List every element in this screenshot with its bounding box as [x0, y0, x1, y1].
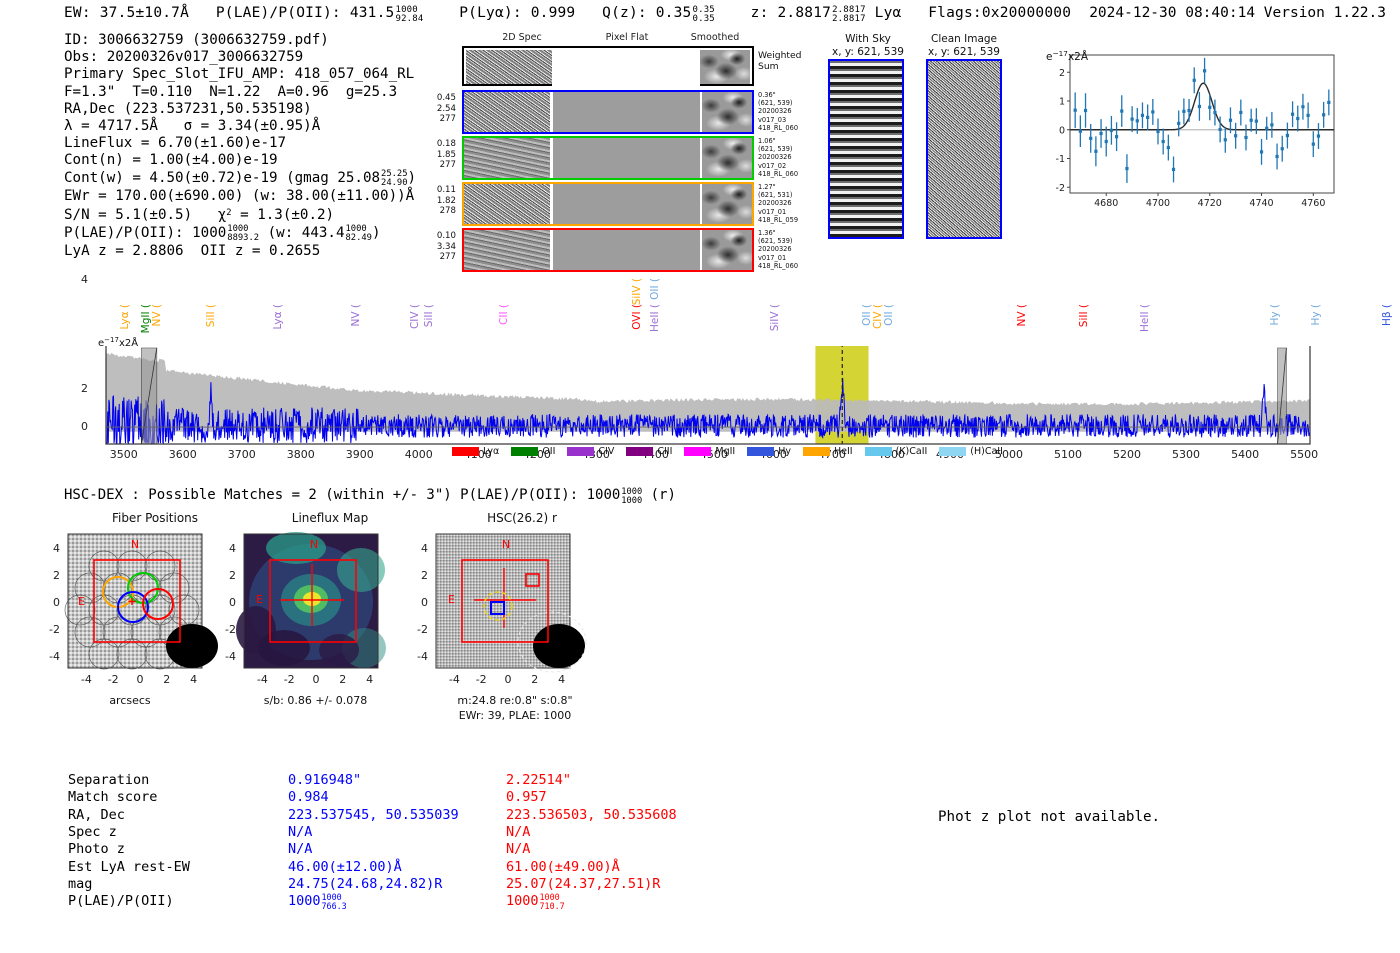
pixelflat-cell — [553, 138, 700, 178]
line-id-label: Lyα ( — [119, 304, 131, 329]
match-row-label: Spec z — [68, 824, 117, 841]
legend-label: (H)CaII — [970, 446, 1003, 457]
match-col2-value: N/A — [506, 824, 530, 841]
spectrum-xtick: 5100 — [1046, 448, 1090, 461]
line-id-label: NV ( — [151, 304, 163, 326]
info-sn-pre: S/N = 5.1(±0.5) χ — [64, 207, 226, 223]
match-col1-value: 223.537545, 50.535039 — [288, 807, 459, 824]
panel-ytick: -2 — [412, 623, 428, 636]
flags-value: Flags:0x20000000 — [928, 5, 1071, 21]
spectrum-ytick: 0 — [74, 420, 88, 433]
panel-xtick: 4 — [548, 673, 576, 686]
plya-value: 0.999 — [531, 5, 576, 21]
legend-label: HeII — [834, 446, 853, 457]
panel-ytick: -4 — [220, 650, 236, 663]
legend-label: OII — [542, 446, 555, 457]
match-col2-value: N/A — [506, 841, 530, 858]
spec2d-row-stats: 0.181.85277 — [420, 139, 456, 171]
spec2d-row — [462, 182, 754, 226]
spec2d-row — [462, 228, 754, 272]
info-cont-w-pre: Cont(w) = 4.50(±0.72)e-19 (gmag 25.08 — [64, 170, 380, 186]
info-cont-w: Cont(w) = 4.50(±0.72)e-19 (gmag 25.0825.… — [64, 170, 416, 189]
svg-text:2: 2 — [1059, 68, 1065, 79]
with-sky-coords: x, y: 621, 539 — [832, 46, 904, 58]
match-col2-value: 0.957 — [506, 789, 547, 806]
spectrum-xtick: 5200 — [1105, 448, 1149, 461]
spectrum-xtick: 3700 — [220, 448, 264, 461]
match-row-label: RA, Dec — [68, 807, 125, 824]
spec2d-row-meta: 0.36"(621, 539)20200326v017_03418_RL_060 — [758, 91, 820, 132]
clean-image-coords: x, y: 621, 539 — [928, 46, 1000, 58]
full-spectrum-plot: Lyα (MgII (NV (SiII (Lyα (NV (CIV (SiII … — [88, 278, 1320, 446]
svg-text:E: E — [448, 593, 455, 606]
svg-text:-2: -2 — [1056, 183, 1065, 194]
svg-text:N: N — [310, 538, 318, 551]
legend-item: OII — [511, 446, 555, 457]
lineflux-caption: s/b: 0.86 +/- 0.078 — [228, 694, 403, 707]
info-seeing: F=1.3" T=0.110 N=1.22 A=0.96 g=25.3 — [64, 84, 416, 101]
panel-xtick: 2 — [153, 673, 181, 686]
line-id-label: Hβ ( — [1381, 304, 1393, 326]
panel-ytick: 0 — [412, 596, 428, 609]
spectrum-xtick: 5300 — [1164, 448, 1208, 461]
legend-item: Lyα — [452, 446, 499, 457]
match-col2-value: 25.07(24.37,27.51)R — [506, 876, 660, 893]
spec2d-row-stats: 0.452.54277 — [420, 93, 456, 125]
info-cont-w-lo: 24.90 — [381, 178, 407, 188]
panel-xtick: 4 — [180, 673, 208, 686]
match-col2-value: 223.536503, 50.535608 — [506, 807, 677, 824]
line-id-label: NV ( — [350, 304, 362, 326]
legend-label: Lyα — [483, 446, 499, 457]
legend-swatch — [684, 447, 711, 456]
line-id-label: SiII ( — [1078, 304, 1090, 327]
legend-item: HeII — [803, 446, 853, 457]
col-title-smoothed: Smoothed — [672, 32, 758, 43]
spectrum-xtick: 4000 — [397, 448, 441, 461]
svg-text:4680: 4680 — [1094, 198, 1118, 209]
timestamp-version: 2024-12-30 08:40:14 Version 1.22.3 — [1089, 5, 1386, 21]
ew-value: 37.5±10.7Å — [100, 5, 189, 21]
legend-item: Hy — [747, 446, 791, 457]
spectrum-flux-unit: e−17x2Å — [98, 336, 138, 349]
qz-value: 0.35 — [656, 5, 692, 21]
panel-xtick: 2 — [521, 673, 549, 686]
hsc-image-title: HSC(26.2) r — [432, 512, 612, 525]
line-id-label: Hy ( — [1310, 304, 1322, 326]
info-plae-end: ) — [372, 225, 381, 241]
panel-ytick: 2 — [220, 569, 236, 582]
match-row-label: mag — [68, 876, 92, 893]
svg-text:N: N — [502, 538, 510, 551]
match-row-label: Est LyA rest-EW — [68, 859, 190, 876]
svg-text:-1: -1 — [1056, 154, 1065, 165]
info-plae-mid: (w: 443.4 — [259, 225, 344, 241]
match-col1-value: 46.00(±12.00)Å — [288, 859, 402, 876]
line-id-label: Hy ( — [1269, 304, 1281, 326]
spectrum-xtick: 3600 — [161, 448, 205, 461]
legend-label: (K)CaII — [896, 446, 928, 457]
panel-xtick: 0 — [494, 673, 522, 686]
panel-xtick: -2 — [467, 673, 495, 686]
match-col1-value: N/A — [288, 841, 312, 858]
fiber-positions-title: Fiber Positions — [65, 512, 245, 525]
svg-text:4700: 4700 — [1146, 198, 1170, 209]
spec2d-row-stats: 0.103.34277 — [420, 231, 456, 263]
spectrum-xtick: 3900 — [338, 448, 382, 461]
panel-xtick: -4 — [248, 673, 276, 686]
svg-text:E: E — [78, 595, 85, 608]
spec2d-panel: 2D Spec Pixel Flat Smoothed Weighted Sum… — [420, 32, 820, 278]
spec2d-row-meta: 1.06"(621, 539)20200326v017_02418_RL_060 — [758, 137, 820, 178]
svg-text:1: 1 — [1059, 97, 1065, 108]
panel-ytick: 2 — [44, 569, 60, 582]
svg-text:E: E — [256, 593, 263, 606]
match-col2-value: 61.00(±49.00)Å — [506, 859, 620, 876]
legend-swatch — [626, 447, 653, 456]
legend-label: CIII — [657, 446, 672, 457]
col-title-pixelflat: Pixel Flat — [582, 32, 672, 43]
with-sky-title: With Sky — [845, 33, 891, 45]
with-sky-image — [828, 59, 904, 239]
clean-image-title: Clean Image — [931, 33, 997, 45]
hsc-caption-2: EWr: 39, PLAE: 1000 — [420, 709, 610, 722]
info-ewr: EWr = 170.00(±690.00) (w: 38.00(±11.00))… — [64, 188, 416, 205]
legend-swatch — [511, 447, 538, 456]
spec2d-row-stats: 0.111.82278 — [420, 185, 456, 217]
line-id-label: CII ( — [498, 304, 510, 325]
legend-swatch — [452, 447, 479, 456]
match-col2-value: 2.22514" — [506, 772, 571, 789]
photz-unavailable-message: Phot z plot not available. — [938, 809, 1160, 825]
panel-ytick: -4 — [412, 650, 428, 663]
z-value: 2.8817 — [777, 5, 831, 21]
panel-ytick: 0 — [44, 596, 60, 609]
detection-info-block: ID: 3006632759 (3006632759.pdf) Obs: 202… — [64, 32, 416, 261]
info-sn-chi2: S/N = 5.1(±0.5) χ2 = 1.3(±0.2) — [64, 205, 416, 224]
spectrum-ytick: 4 — [74, 273, 88, 286]
line-id-label: OII ( — [883, 304, 895, 326]
pixelflat-cell — [553, 92, 700, 132]
panel-ytick: 4 — [220, 542, 236, 555]
legend-swatch — [747, 447, 774, 456]
info-id: ID: 3006632759 (3006632759.pdf) — [64, 32, 416, 49]
spec2d-cell — [464, 230, 550, 270]
spec2d-row — [462, 136, 754, 180]
match-row-label: Separation — [68, 772, 149, 789]
qz-label: Q(z): — [602, 5, 647, 21]
info-radec: RA,Dec (223.537231,50.535198) — [64, 101, 416, 118]
panel-xtick: -2 — [275, 673, 303, 686]
info-plae: P(LAE)/P(OII): 100010008893.2 (w: 443.41… — [64, 225, 416, 244]
line-id-label: HeII ( — [1139, 304, 1151, 332]
emission-line-zoom-svg: -2-101246804700472047404760 — [1040, 47, 1340, 217]
match-row-label: Match score — [68, 789, 157, 806]
emission-line-zoom-plot: -2-101246804700472047404760 e−17x2Å — [1040, 47, 1340, 217]
legend-swatch — [939, 447, 966, 456]
info-plae-lo: 8893.2 — [227, 233, 259, 243]
plae-value: 431.5 — [350, 5, 395, 21]
spec2d-cell — [464, 92, 550, 132]
smoothed-cell — [702, 92, 752, 132]
info-cont-w-post: ) — [408, 170, 417, 186]
match-col2-value: 10001000710.7 — [506, 893, 565, 910]
panel-xtick: 0 — [126, 673, 154, 686]
panel-ytick: -2 — [220, 623, 236, 636]
panel-xtick: -4 — [440, 673, 468, 686]
z-label: z: — [751, 5, 769, 21]
spectrum-xtick: 3800 — [279, 448, 323, 461]
match-col1-value: 10001000766.3 — [288, 893, 347, 910]
info-sn-post: = 1.3(±0.2) — [232, 207, 335, 223]
legend-item: CIV — [567, 446, 614, 457]
spec2d-row-meta: 1.27"(621, 531)20200326v017_01418_RL_059 — [758, 183, 820, 224]
panel-ytick: -4 — [44, 650, 60, 663]
info-redshifts: LyA z = 2.8806 OII z = 0.2655 — [64, 243, 416, 260]
legend-label: MgII — [715, 446, 735, 457]
pixelflat-cell — [553, 230, 700, 270]
info-plae-pre: P(LAE)/P(OII): 1000 — [64, 225, 226, 241]
line-id-label: NV ( — [1016, 304, 1028, 326]
match-row-label: P(LAE)/P(OII) — [68, 893, 174, 910]
pixelflat-cell — [553, 184, 700, 224]
line-id-label: CIV ( — [409, 304, 421, 329]
hsc-caption-1: m:24.8 re:0.8" s:0.8" — [420, 694, 610, 707]
match-col1-value: 0.984 — [288, 789, 329, 806]
match-col1-value: N/A — [288, 824, 312, 841]
line-id-label: MgII ( — [140, 304, 152, 333]
line-id-label: SiII ( — [423, 304, 435, 327]
line-id-label: Lyα ( — [272, 304, 284, 329]
legend-item: MgII — [684, 446, 735, 457]
line-id-label: OII ( — [649, 278, 661, 300]
svg-text:4760: 4760 — [1301, 198, 1325, 209]
fiber-xlabel: arcsecs — [60, 694, 200, 707]
legend-item: CIII — [626, 446, 672, 457]
panel-xtick: 2 — [329, 673, 357, 686]
panel-xtick: -2 — [99, 673, 127, 686]
spec2d-row-meta: 1.36"(621, 539)20200326v017_01418_RL_060 — [758, 229, 820, 270]
info-lineflux: LineFlux = 6.70(±1.60)e-17 — [64, 135, 416, 152]
line-id-label: SiIV ( — [631, 278, 643, 305]
plae-label: P(LAE)/P(OII): — [216, 5, 341, 21]
spectrum-xtick: 5500 — [1282, 448, 1326, 461]
line-id-labels: Lyα (MgII (NV (SiII (Lyα (NV (CIV (SiII … — [88, 278, 1320, 350]
legend-swatch — [567, 447, 594, 456]
panel-ytick: 4 — [412, 542, 428, 555]
legend-item: (H)CaII — [939, 446, 1003, 457]
line-id-label: OVI ( — [631, 304, 643, 330]
panel-ytick: -2 — [44, 623, 60, 636]
lineflux-map-title: Lineflux Map — [240, 512, 420, 525]
spectrum-xtick: 5400 — [1223, 448, 1267, 461]
line-id-label: SiIV ( — [769, 304, 781, 331]
qz-lo: 0.35 — [692, 14, 714, 24]
svg-text:N: N — [131, 538, 139, 551]
spec2d-cell — [464, 138, 550, 178]
info-cont-n: Cont(n) = 1.00(±4.00)e-19 — [64, 152, 416, 169]
spec2d-row — [462, 90, 754, 134]
plae-lo: 92.84 — [395, 14, 423, 24]
svg-text:4720: 4720 — [1198, 198, 1222, 209]
hscdex-post: (r) — [642, 487, 676, 503]
info-plae-w-lo: 82.49 — [346, 233, 372, 243]
panel-ytick: 2 — [412, 569, 428, 582]
legend-item: (K)CaII — [865, 446, 928, 457]
info-obs: Obs: 20200326v017_3006632759 — [64, 49, 416, 66]
match-col1-value: 0.916948" — [288, 772, 361, 789]
hscdex-plae-lo: 1000 — [621, 496, 642, 506]
legend-swatch — [803, 447, 830, 456]
col-title-2dspec: 2D Spec — [462, 32, 582, 43]
line-id-label: HeII ( — [649, 304, 661, 332]
panel-xtick: 4 — [356, 673, 384, 686]
legend-label: CIV — [598, 446, 614, 457]
clean-image — [926, 59, 1002, 239]
panel-xtick: 0 — [302, 673, 330, 686]
svg-text:4740: 4740 — [1249, 198, 1273, 209]
z-lo: 2.8817 — [832, 14, 866, 24]
panel-xtick: -4 — [72, 673, 100, 686]
panel-ytick: 0 — [220, 596, 236, 609]
spectrum-legend: LyαOIICIVCIIIMgIIHyHeII(K)CaII(H)CaII — [452, 446, 1003, 457]
zoomplot-flux-unit: e−17x2Å — [1046, 49, 1088, 63]
spec2d-cell — [464, 184, 550, 224]
info-primary-slot: Primary Spec_Slot_IFU_AMP: 418_057_064_R… — [64, 66, 416, 83]
z-species: Lyα — [875, 5, 902, 21]
hscdex-summary-line: HSC-DEX : Possible Matches = 2 (within +… — [64, 487, 676, 506]
svg-text:0: 0 — [1059, 125, 1065, 136]
spectrum-svg — [88, 346, 1320, 446]
plya-label: P(Lyα): — [459, 5, 522, 21]
panel-ytick: 4 — [44, 542, 60, 555]
hscdex-pre: HSC-DEX : Possible Matches = 2 (within +… — [64, 487, 620, 503]
legend-swatch — [865, 447, 892, 456]
match-col1-value: 24.75(24.68,24.82)R — [288, 876, 442, 893]
line-id-label: SiII ( — [205, 304, 217, 327]
info-lambda-sigma: λ = 4717.5Å σ = 3.34(±0.95)Å — [64, 118, 416, 135]
weighted-sum-label: Weighted Sum — [758, 50, 802, 72]
smoothed-cell — [702, 230, 752, 270]
smoothed-cell — [702, 138, 752, 178]
smoothed-cell — [702, 184, 752, 224]
header-summary-line: EW: 37.5±10.7Å P(LAE)/P(OII): 431.510009… — [64, 5, 1071, 24]
match-row-label: Photo z — [68, 841, 125, 858]
legend-label: Hy — [778, 446, 791, 457]
spectrum-xtick: 3500 — [102, 448, 146, 461]
spectrum-ytick: 2 — [74, 382, 88, 395]
ew-label: EW: — [64, 5, 91, 21]
